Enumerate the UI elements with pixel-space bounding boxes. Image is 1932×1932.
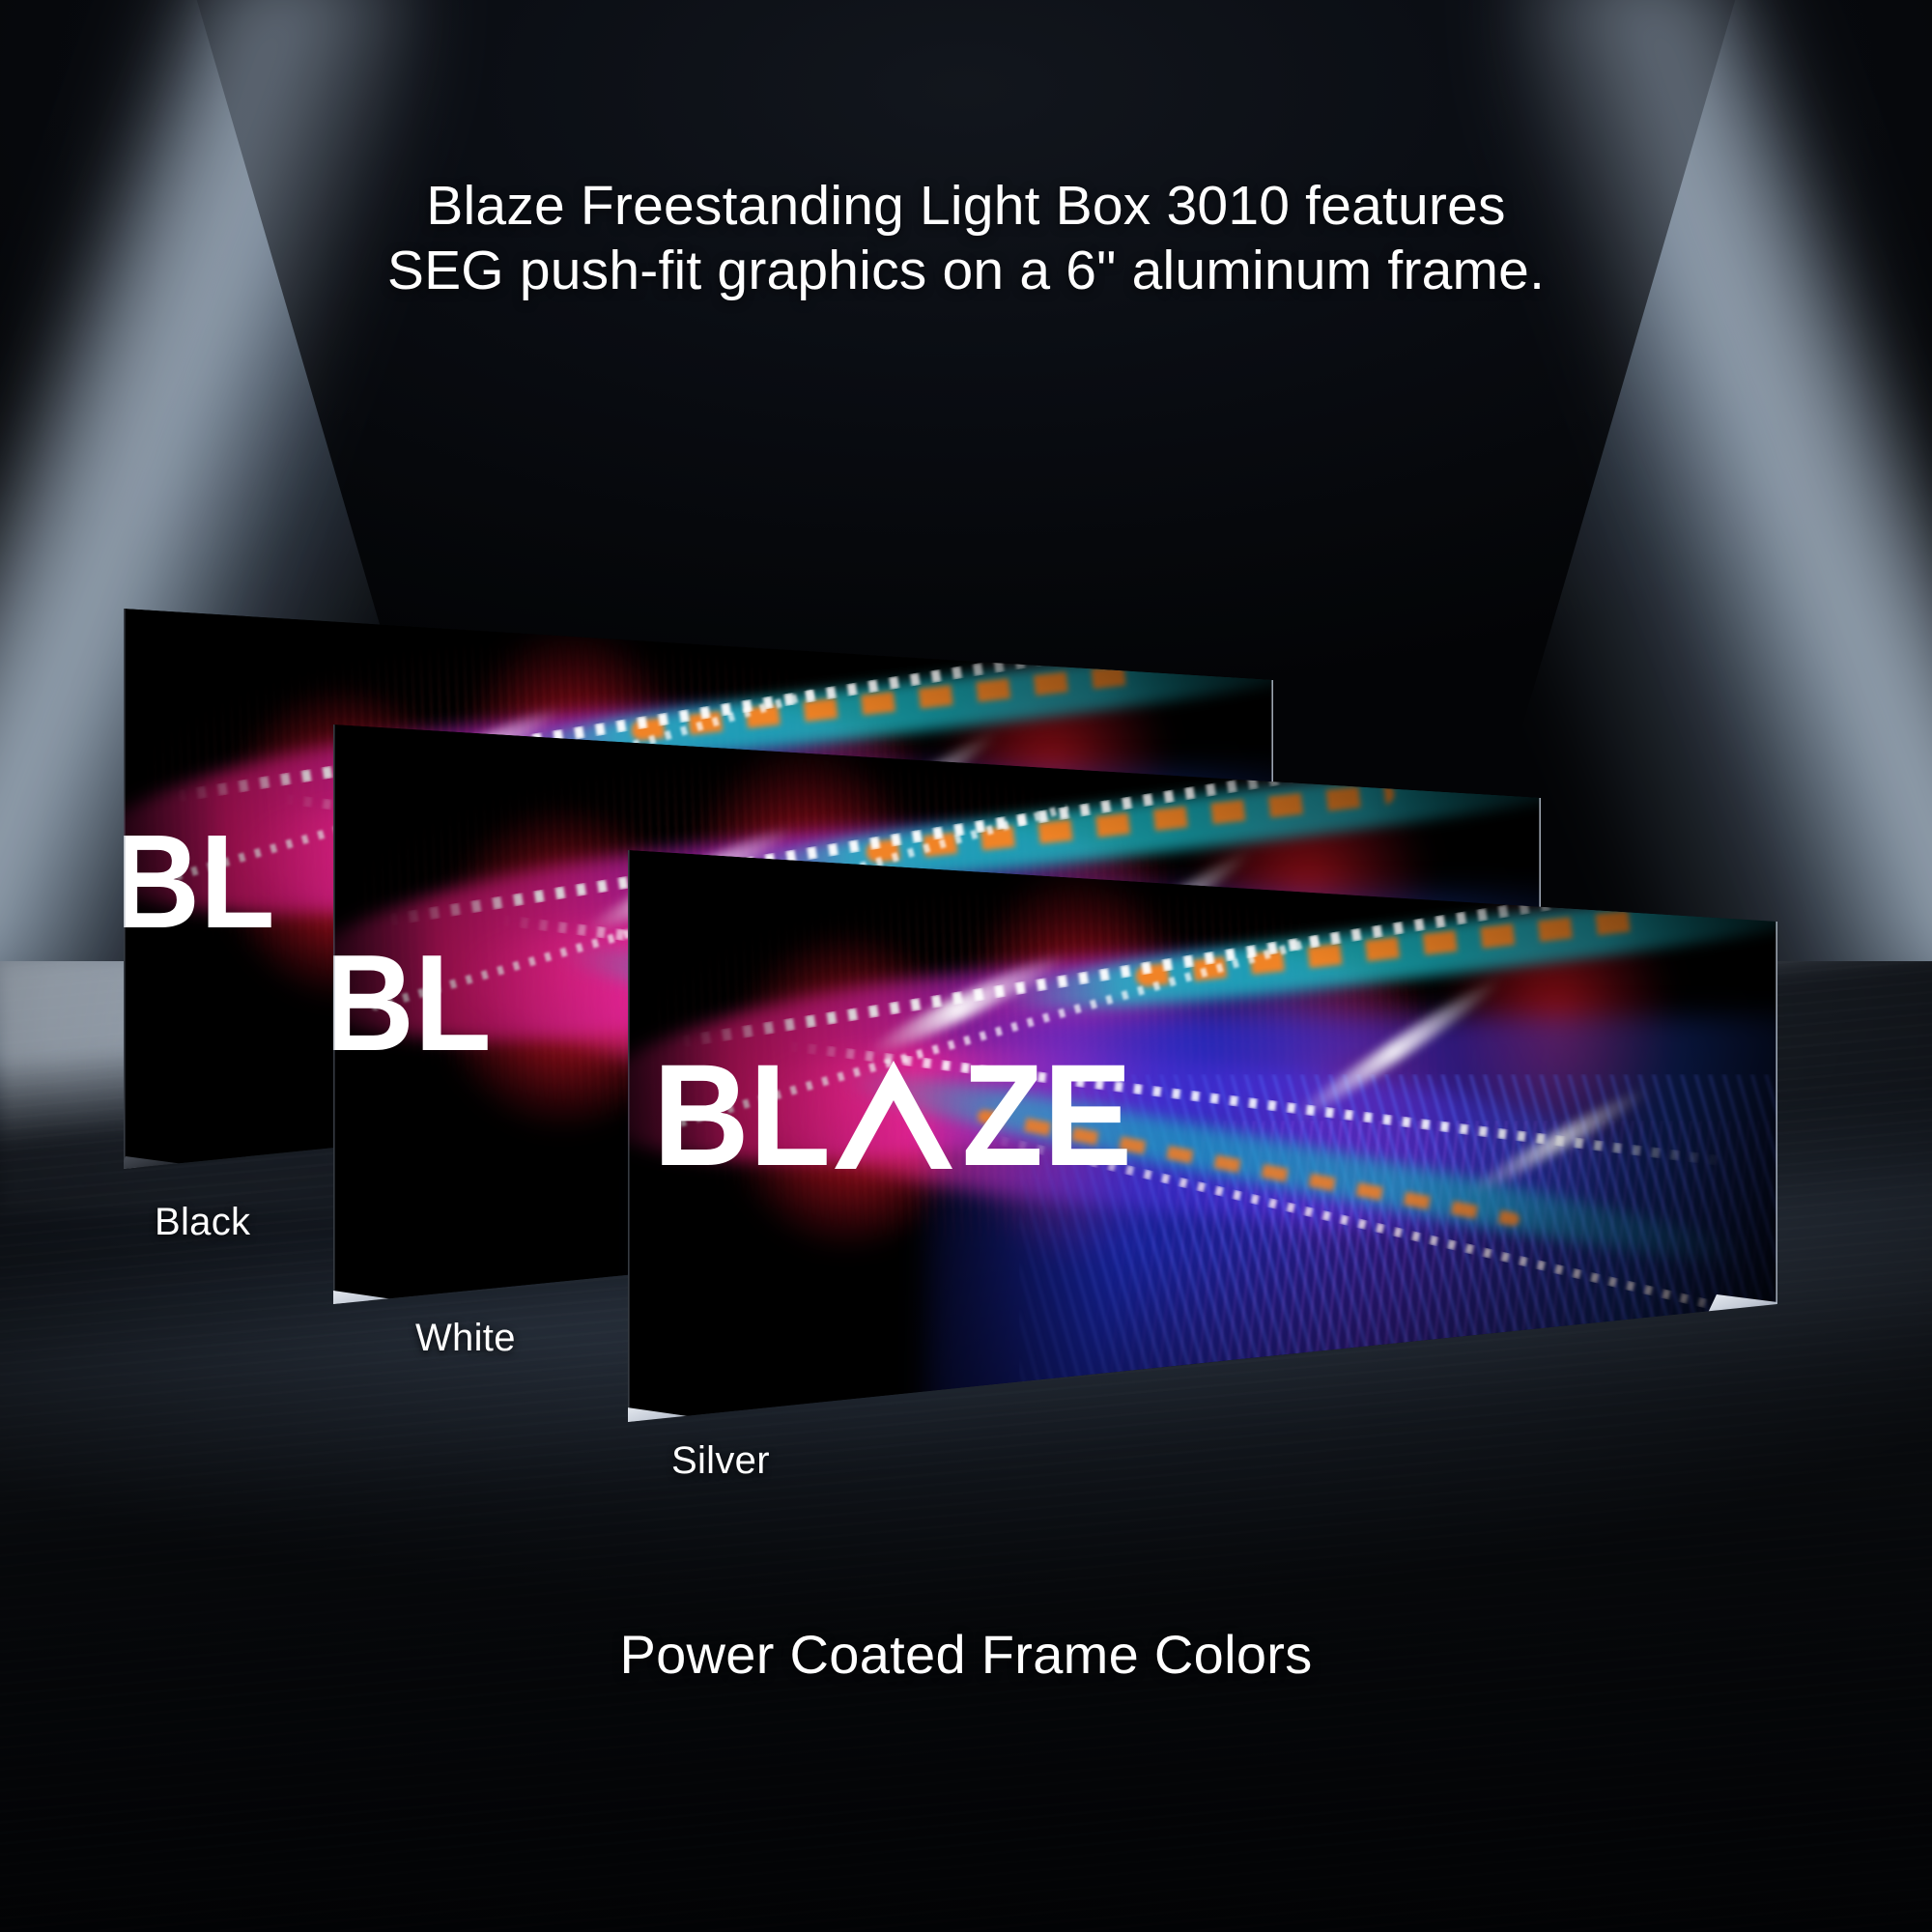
page-caption: Power Coated Frame Colors [0,1623,1932,1686]
studio-scene: BL BL [0,0,1932,1932]
blaze-wordmark-black: BL [124,815,282,949]
wordmark-letters: BL [124,815,275,949]
swatch-label-black: Black [155,1201,250,1244]
swatch-label-silver: Silver [671,1439,770,1483]
wordmark-bl: BL [653,1042,831,1187]
page-headline: Blaze Freestanding Light Box 3010 featur… [0,174,1932,304]
blaze-wordmark-white: BL [333,935,498,1072]
wordmark-ze: ZE [962,1042,1132,1187]
headline-line-1: Blaze Freestanding Light Box 3010 featur… [0,174,1932,239]
swatch-label-white: White [415,1317,516,1360]
wordmark-letter-a-icon [835,1061,952,1169]
wordmark-letters: BL [333,935,492,1072]
headline-line-2: SEG push-fit graphics on a 6" aluminum f… [0,239,1932,303]
blaze-wordmark-silver: BL ZE [645,842,1140,1405]
